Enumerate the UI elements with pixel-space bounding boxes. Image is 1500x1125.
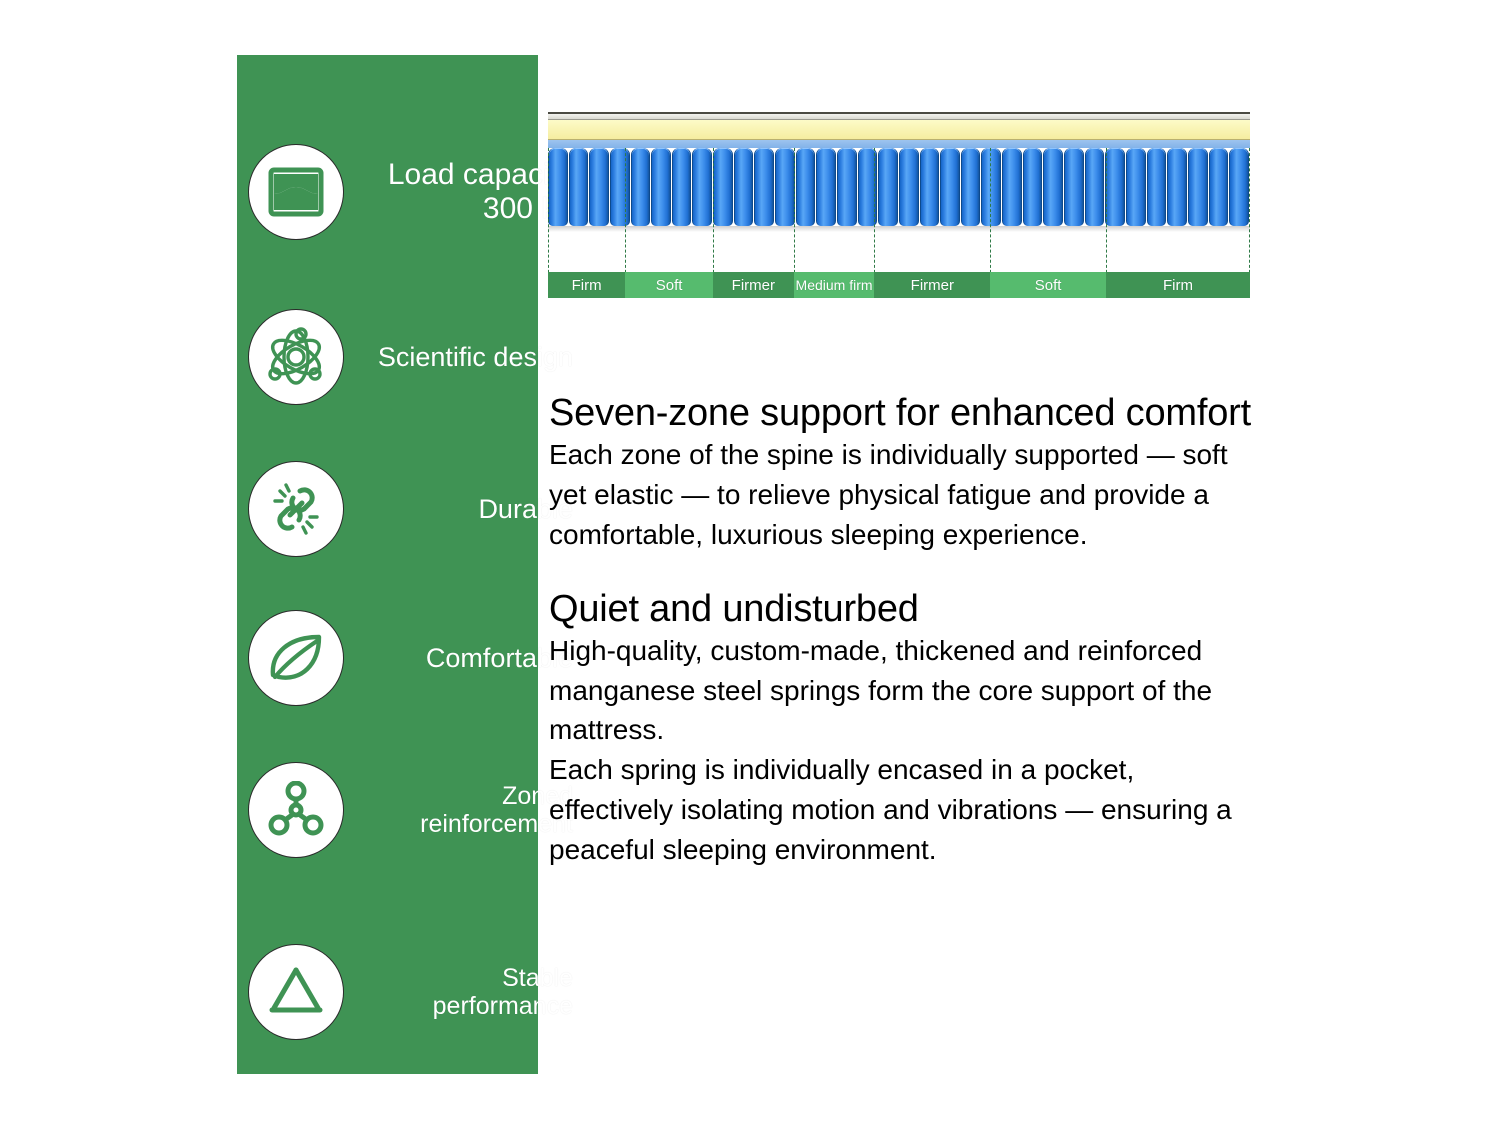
chain-link-icon — [249, 462, 343, 556]
pocket-spring — [610, 148, 630, 226]
pocket-spring — [940, 148, 960, 226]
pocket-spring — [631, 148, 651, 226]
pocket-spring — [672, 148, 692, 226]
pocket-spring — [589, 148, 609, 226]
pocket-spring — [548, 148, 568, 226]
section-heading: Seven-zone support for enhanced comfort — [549, 393, 1255, 433]
zone-label-cell: Firmer — [713, 272, 794, 298]
pocket-spring — [961, 148, 981, 226]
feature-item-stable: Stable performance — [237, 945, 538, 1041]
triangle-stable-icon — [249, 945, 343, 1039]
section-body: Each zone of the spine is individually s… — [549, 435, 1255, 554]
mattress-cutaway-diagram: FirmSoftFirmerMedium firmFirmerSoftFirm — [548, 112, 1250, 298]
feature-item-label: Zoned reinforcement — [347, 782, 573, 838]
mattress-load-icon — [249, 145, 343, 239]
pocket-spring — [981, 148, 1001, 226]
pocket-spring — [569, 148, 589, 226]
zone-label-cell: Firm — [548, 272, 625, 298]
pocket-spring — [734, 148, 754, 226]
feature-item-load-capacity: Load capacity 300 kg — [237, 145, 538, 241]
feature-item-durable: Durable — [237, 462, 538, 558]
feature-item-zoned: Zoned reinforcement — [237, 763, 538, 859]
zone-firmness-bar: FirmSoftFirmerMedium firmFirmerSoftFirm — [548, 272, 1250, 298]
pocket-spring — [1229, 148, 1249, 226]
section-spacer — [549, 555, 1255, 589]
comfort-foam-layer — [548, 120, 1250, 140]
pocket-spring — [899, 148, 919, 226]
pocket-spring — [816, 148, 836, 226]
mattress-layer-stack — [548, 112, 1250, 150]
molecule-nodes-icon — [249, 763, 343, 857]
section-heading: Quiet and undisturbed — [549, 589, 1255, 629]
pocket-spring — [1126, 148, 1146, 226]
pocket-spring — [1105, 148, 1125, 226]
pocket-spring — [1167, 148, 1187, 226]
pocket-spring — [1085, 148, 1105, 226]
pocket-spring — [796, 148, 816, 226]
pocket-spring — [1209, 148, 1229, 226]
feature-item-scientific-design: Scientific design — [237, 310, 538, 406]
feature-item-label: Durable — [347, 494, 573, 524]
leaf-icon — [249, 611, 343, 705]
pocket-spring — [651, 148, 671, 226]
zone-label-cell: Soft — [625, 272, 713, 298]
pocket-spring — [1043, 148, 1063, 226]
feature-item-label: Comfortable — [347, 643, 573, 673]
pocket-spring — [775, 148, 795, 226]
pocket-spring — [1147, 148, 1167, 226]
zone-label-cell: Medium firm — [794, 272, 875, 298]
pocket-spring — [754, 148, 774, 226]
zone-label-cell: Soft — [990, 272, 1106, 298]
content-column: Seven-zone support for enhanced comfortE… — [549, 393, 1255, 869]
pocket-spring — [878, 148, 898, 226]
pocket-spring — [1023, 148, 1043, 226]
zone-label-cell: Firmer — [874, 272, 990, 298]
spring-base-shadow — [548, 226, 1250, 232]
pocket-spring — [920, 148, 940, 226]
pocket-spring — [692, 148, 712, 226]
section-body: High-quality, custom-made, thickened and… — [549, 631, 1255, 870]
feature-item-label: Scientific design — [347, 342, 573, 372]
feature-item-label: Load capacity 300 kg — [347, 158, 573, 225]
pocket-spring — [713, 148, 733, 226]
pocket-spring — [837, 148, 857, 226]
pocket-spring-row — [548, 148, 1250, 226]
atom-science-icon — [249, 310, 343, 404]
feature-sidebar: Load capacity 300 kg Scientific design D… — [237, 55, 538, 1074]
zone-label-cell: Firm — [1106, 272, 1250, 298]
pocket-spring — [1188, 148, 1208, 226]
feature-item-comfortable: Comfortable — [237, 611, 538, 707]
pocket-spring — [858, 148, 878, 226]
feature-item-label: Stable performance — [347, 964, 573, 1020]
pocket-spring — [1064, 148, 1084, 226]
pocket-spring — [1002, 148, 1022, 226]
